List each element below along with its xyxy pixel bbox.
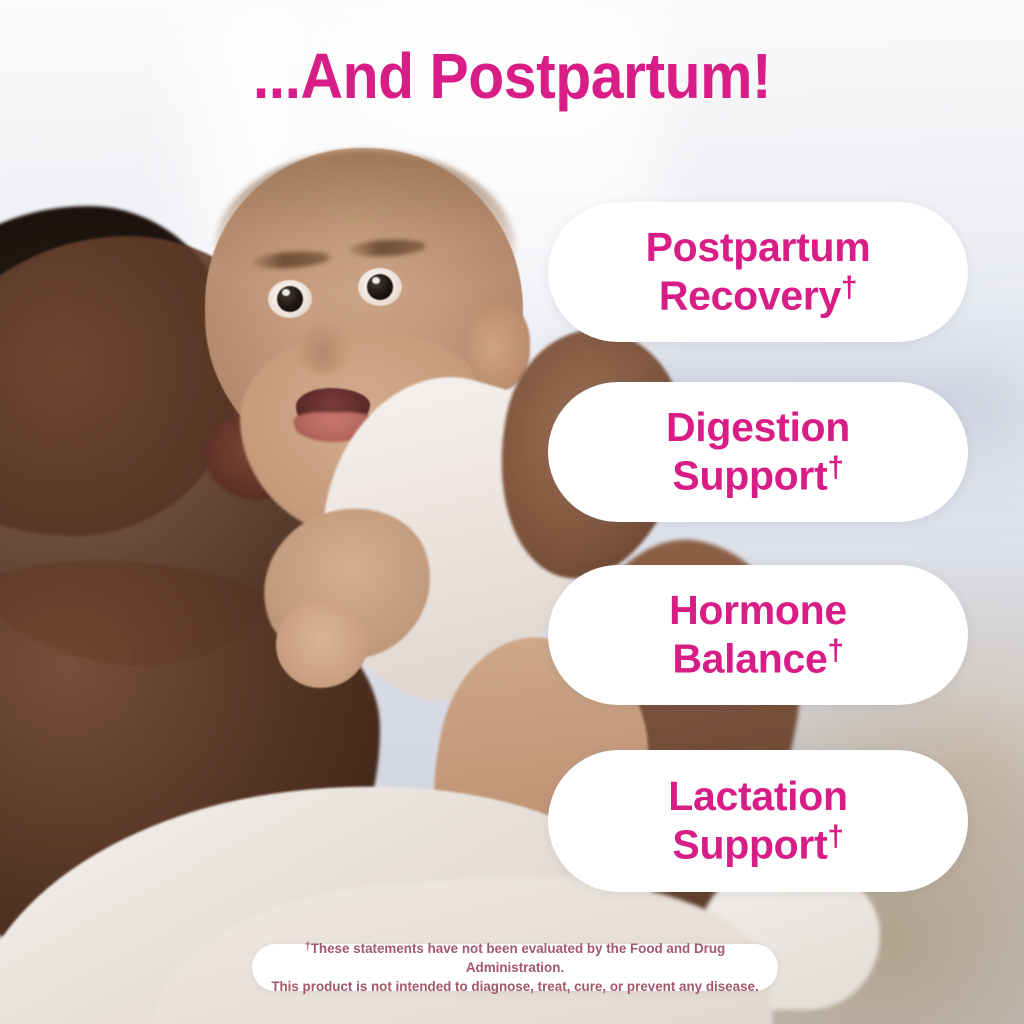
footnote-dagger-icon: † [828,634,844,667]
benefit-line-2: Support [672,452,827,498]
page-title: ...And Postpartum! [41,44,983,108]
baby-eye-left [268,280,312,318]
benefit-pill-label: Hormone Balance† [653,588,863,682]
benefit-line-2: Recovery [659,272,841,318]
benefit-line-2: Balance [672,635,827,681]
benefit-pill-digestion-support: Digestion Support† [548,382,968,522]
footnote-dagger-icon: † [841,271,857,304]
footnote-dagger-icon: † [827,451,843,484]
fda-disclaimer-text: †These statements have not been evaluate… [252,939,778,996]
benefit-line-1: Lactation [668,773,848,819]
disclaimer-line-1: These statements have not been evaluated… [311,941,725,975]
benefit-pill-hormone-balance: Hormone Balance† [548,565,968,705]
benefit-pill-label: Digestion Support† [650,405,866,499]
promo-graphic: ...And Postpartum! Postpartum Recovery† … [0,0,1024,1024]
benefit-line-1: Hormone [669,587,847,633]
disclaimer-line-2: This product is not intended to diagnose… [271,979,758,994]
benefit-line-2: Support [672,821,827,867]
baby-eye-glint-right [372,277,380,284]
benefit-pill-lactation-support: Lactation Support† [548,750,968,892]
baby-hairline [215,150,515,290]
benefit-pill-postpartum-recovery: Postpartum Recovery† [548,202,968,342]
baby-nose [296,322,350,374]
benefit-pill-label: Lactation Support† [652,774,864,868]
fda-disclaimer: †These statements have not been evaluate… [252,944,778,991]
baby-pupil-left [277,286,303,312]
benefit-line-1: Digestion [666,404,850,450]
benefit-pill-label: Postpartum Recovery† [630,225,887,319]
baby-eye-glint-left [282,289,290,296]
benefit-line-1: Postpartum [646,224,871,270]
baby-pupil-right [367,274,393,300]
footnote-dagger-icon: † [827,820,843,853]
baby-eye-right [358,268,402,306]
